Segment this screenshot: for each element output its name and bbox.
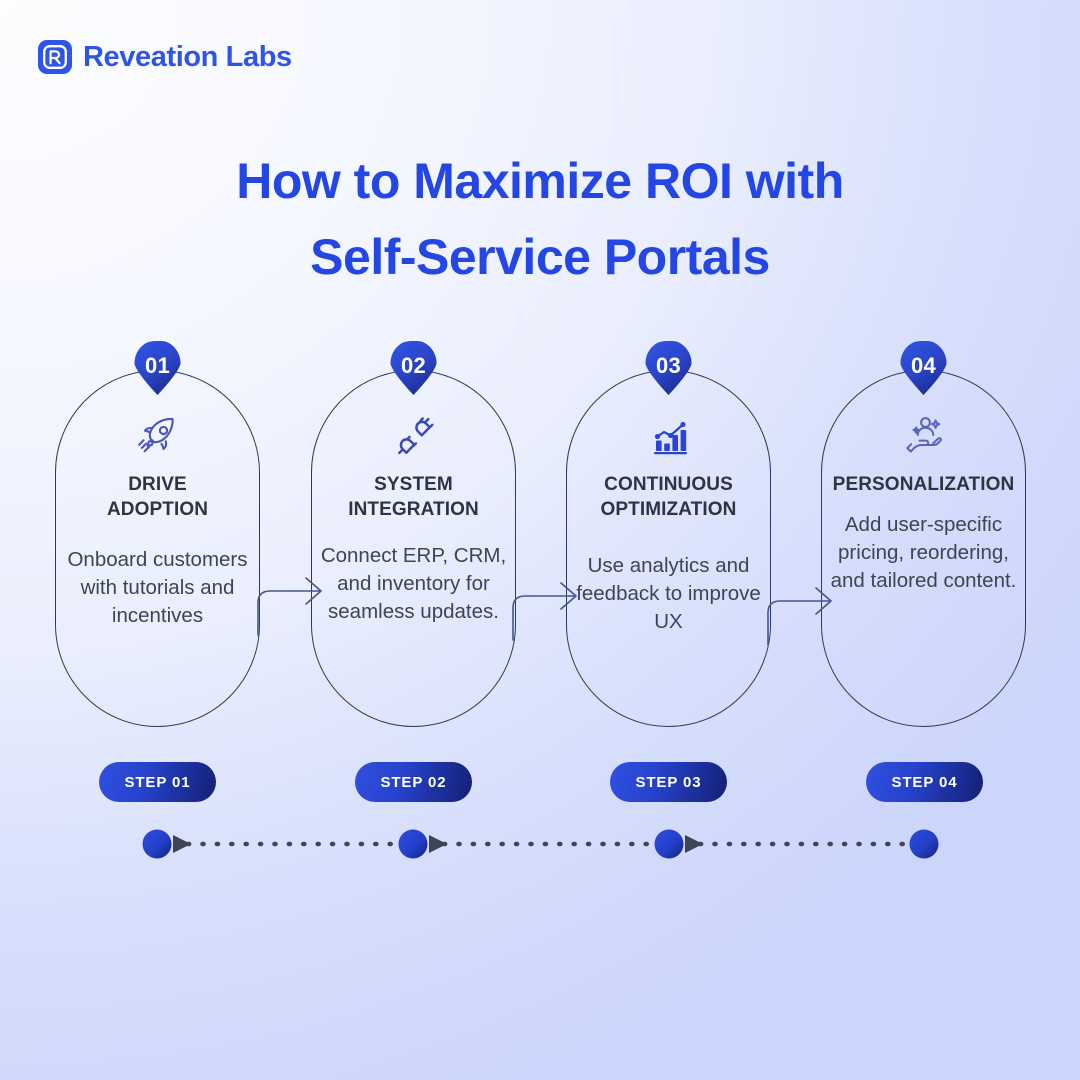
track-node-3: [655, 830, 684, 859]
step-number-badge-1: 01: [131, 341, 185, 395]
step-heading-1: DRIVE ADOPTION: [107, 472, 208, 522]
page-title: How to Maximize ROI with Self-Service Po…: [0, 143, 1080, 295]
step-card-4[interactable]: 04 PERSONALIZATION Add user-speci: [821, 370, 1026, 727]
step-pill-1[interactable]: STEP 01: [99, 762, 216, 802]
step-number-badge-2: 02: [387, 341, 441, 395]
reveation-r-logo-icon: [38, 40, 72, 74]
step-heading-3: CONTINUOUS OPTIMIZATION: [601, 472, 737, 522]
hand-user-sparkle-icon: [897, 411, 951, 461]
step-number-badge-4: 04: [897, 341, 951, 395]
step-number-2: 02: [387, 337, 441, 395]
step-card-2[interactable]: 02: [311, 370, 516, 727]
brand-name: Reveation Labs: [83, 41, 292, 74]
track-arrow-2: [429, 835, 447, 853]
steps-container: 01 DRIVE ADOPTION On: [0, 345, 1080, 745]
track-arrow-3: [685, 835, 703, 853]
step-card-1[interactable]: 01 DRIVE ADOPTION On: [55, 370, 260, 727]
step-description-1: Onboard customers with tutorials and inc…: [63, 546, 253, 630]
brand-logo: Reveation Labs: [38, 40, 292, 74]
step-number-3: 03: [642, 337, 696, 395]
bar-chart-trend-icon: [643, 411, 695, 461]
track-node-1: [143, 830, 172, 859]
plug-connector-icon: [388, 411, 440, 461]
step-heading-4: PERSONALIZATION: [833, 472, 1015, 497]
track-arrow-heads: [173, 835, 703, 853]
step-pill-3[interactable]: STEP 03: [610, 762, 727, 802]
track-arrow-1: [173, 835, 191, 853]
step-description-3: Use analytics and feedback to improve UX: [574, 552, 764, 636]
step-number-4: 04: [897, 337, 951, 395]
step-number-1: 01: [131, 337, 185, 395]
page-title-line-1: How to Maximize ROI with: [0, 143, 1080, 219]
step-card-3[interactable]: 03: [566, 370, 771, 727]
step-description-4: Add user-specific pricing, reordering, a…: [829, 511, 1019, 595]
page-title-line-2: Self-Service Portals: [0, 219, 1080, 295]
track-node-2: [399, 830, 428, 859]
step-number-badge-3: 03: [642, 341, 696, 395]
track-node-4: [910, 830, 939, 859]
step-heading-2: SYSTEM INTEGRATION: [348, 472, 479, 522]
progress-track: [0, 824, 1080, 864]
step-pill-2[interactable]: STEP 02: [355, 762, 472, 802]
step-description-2: Connect ERP, CRM, and inventory for seam…: [319, 542, 509, 626]
step-pill-4[interactable]: STEP 04: [866, 762, 983, 802]
rocket-icon: [132, 411, 184, 461]
step-pills: STEP 01 STEP 02 STEP 03 STEP 04: [0, 762, 1080, 802]
